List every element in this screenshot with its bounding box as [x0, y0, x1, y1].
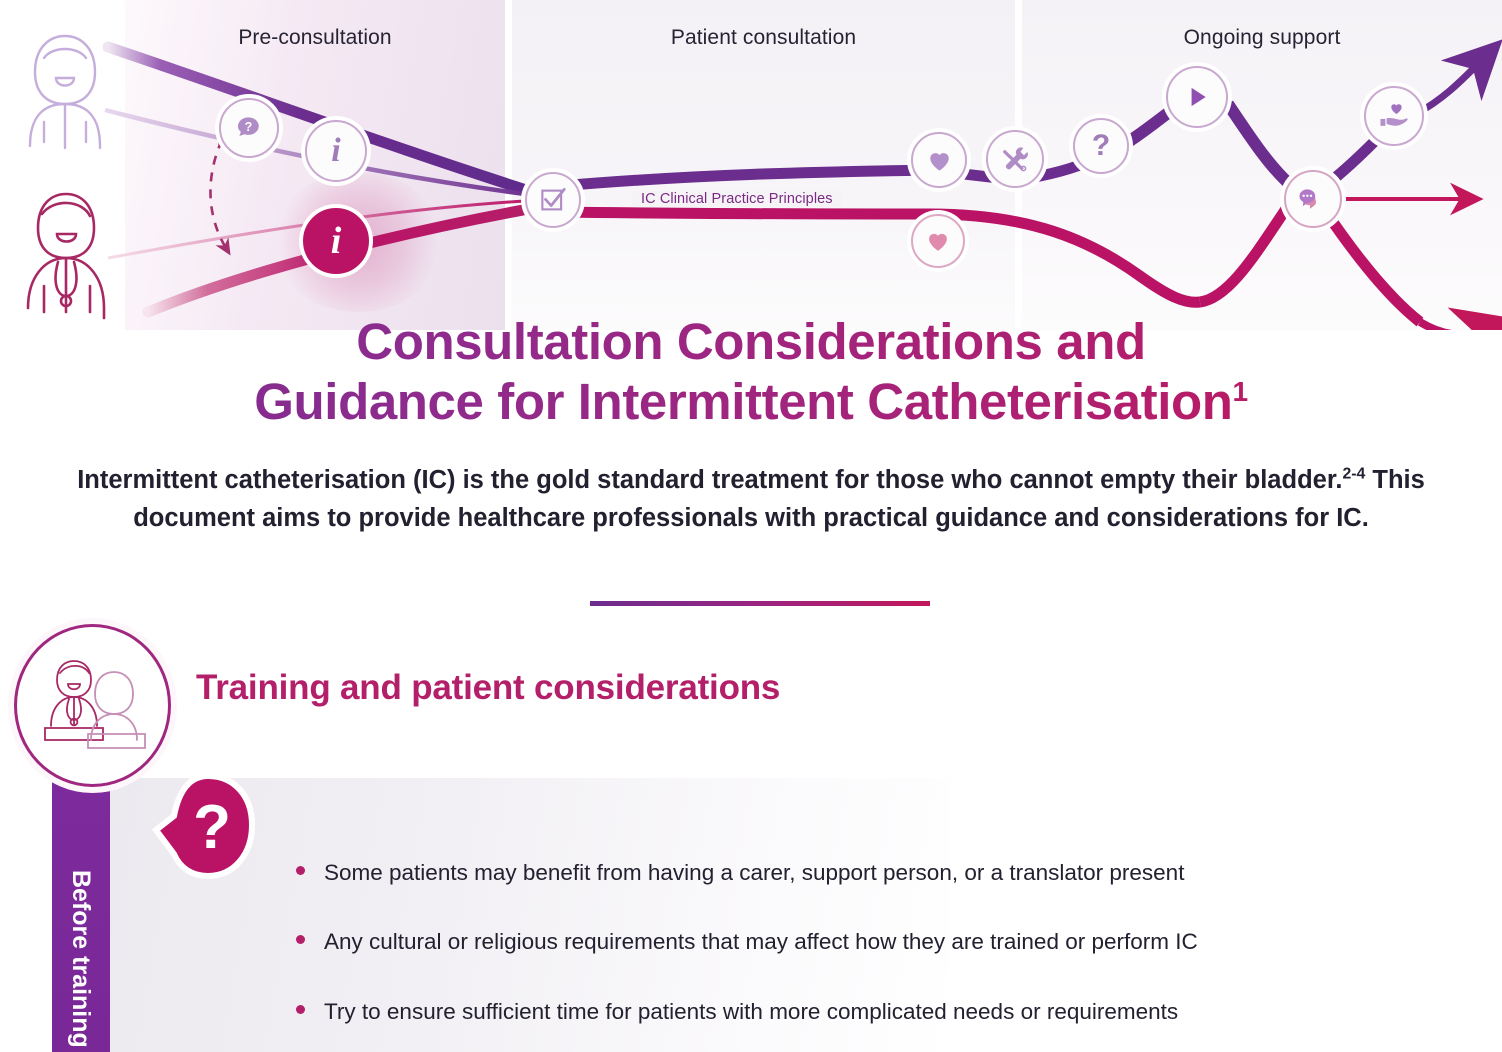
question-bubble-icon[interactable]: ?: [219, 98, 279, 158]
section-divider: [590, 601, 930, 606]
heart-pink-glyph: [925, 228, 951, 254]
list-item: Try to ensure sufficient time for patien…: [288, 997, 1458, 1026]
tools-glyph: [1000, 144, 1030, 174]
list-item-text: Some patients may benefit from having a …: [324, 860, 1184, 885]
consultation-avatar-badge: [14, 624, 171, 787]
considerations-list: Some patients may benefit from having a …: [288, 858, 1458, 1052]
hand-heart-icon[interactable]: [1364, 86, 1424, 146]
intro-part-1: Intermittent catheterisation (IC) is the…: [77, 466, 1342, 494]
bullet-dot-icon: [296, 935, 305, 944]
question-bubble-glyph: ?: [234, 113, 264, 143]
page-title: Consultation Considerations and Guidance…: [60, 312, 1442, 431]
list-item-text: Try to ensure sufficient time for patien…: [324, 999, 1178, 1024]
speech-bubbles-glyph: [1297, 184, 1329, 214]
page-root: Pre-consultation Patient consultation On…: [0, 0, 1502, 1052]
patient-journey-diagram: Pre-consultation Patient consultation On…: [0, 0, 1502, 330]
question-badge: ?: [152, 772, 262, 882]
heart-icon[interactable]: [911, 132, 967, 188]
principles-label: IC Clinical Practice Principles: [632, 191, 842, 207]
question-icon[interactable]: ?: [1073, 118, 1129, 174]
heart-pink-icon[interactable]: [911, 214, 965, 268]
consultation-scene-icon: [33, 654, 153, 758]
question-glyph: ?: [1092, 131, 1110, 161]
side-tab-label: Before training: [52, 778, 110, 1052]
patient-figure: [30, 36, 100, 148]
title-superscript: 1: [1233, 376, 1248, 407]
bullet-dot-icon: [296, 866, 305, 875]
question-badge-glyph: ?: [152, 772, 262, 882]
tools-icon[interactable]: [986, 130, 1044, 188]
list-item-text: Any cultural or religious requirements t…: [324, 929, 1198, 954]
title-line-1: Consultation Considerations and: [356, 313, 1145, 370]
info-highlighted-glyph: i: [331, 222, 342, 260]
side-tab-before-training[interactable]: Before training: [52, 778, 110, 1052]
info-glyph: i: [331, 134, 340, 168]
info-icon[interactable]: i: [305, 120, 367, 182]
intro-superscript: 2-4: [1342, 466, 1365, 483]
speech-bubbles-icon[interactable]: [1284, 170, 1342, 228]
checkbox-tick-glyph: [538, 185, 568, 215]
intro-paragraph: Intermittent catheterisation (IC) is the…: [70, 462, 1432, 537]
section-heading: Training and patient considerations: [196, 668, 780, 708]
journey-paths: [0, 0, 1502, 330]
clinician-figure: [28, 194, 104, 318]
bullet-dot-icon: [296, 1005, 305, 1014]
checkbox-tick-icon[interactable]: [525, 172, 581, 228]
info-highlighted-icon[interactable]: i: [303, 208, 369, 274]
hand-heart-glyph: [1378, 101, 1410, 131]
list-item: Any cultural or religious requirements t…: [288, 927, 1458, 956]
title-line-2: Guidance for Intermittent Catheterisatio…: [254, 373, 1232, 430]
heart-glyph: [926, 147, 953, 174]
play-icon[interactable]: [1166, 66, 1228, 128]
play-glyph: [1184, 84, 1210, 110]
list-item: Some patients may benefit from having a …: [288, 858, 1458, 887]
svg-text:?: ?: [245, 120, 253, 134]
